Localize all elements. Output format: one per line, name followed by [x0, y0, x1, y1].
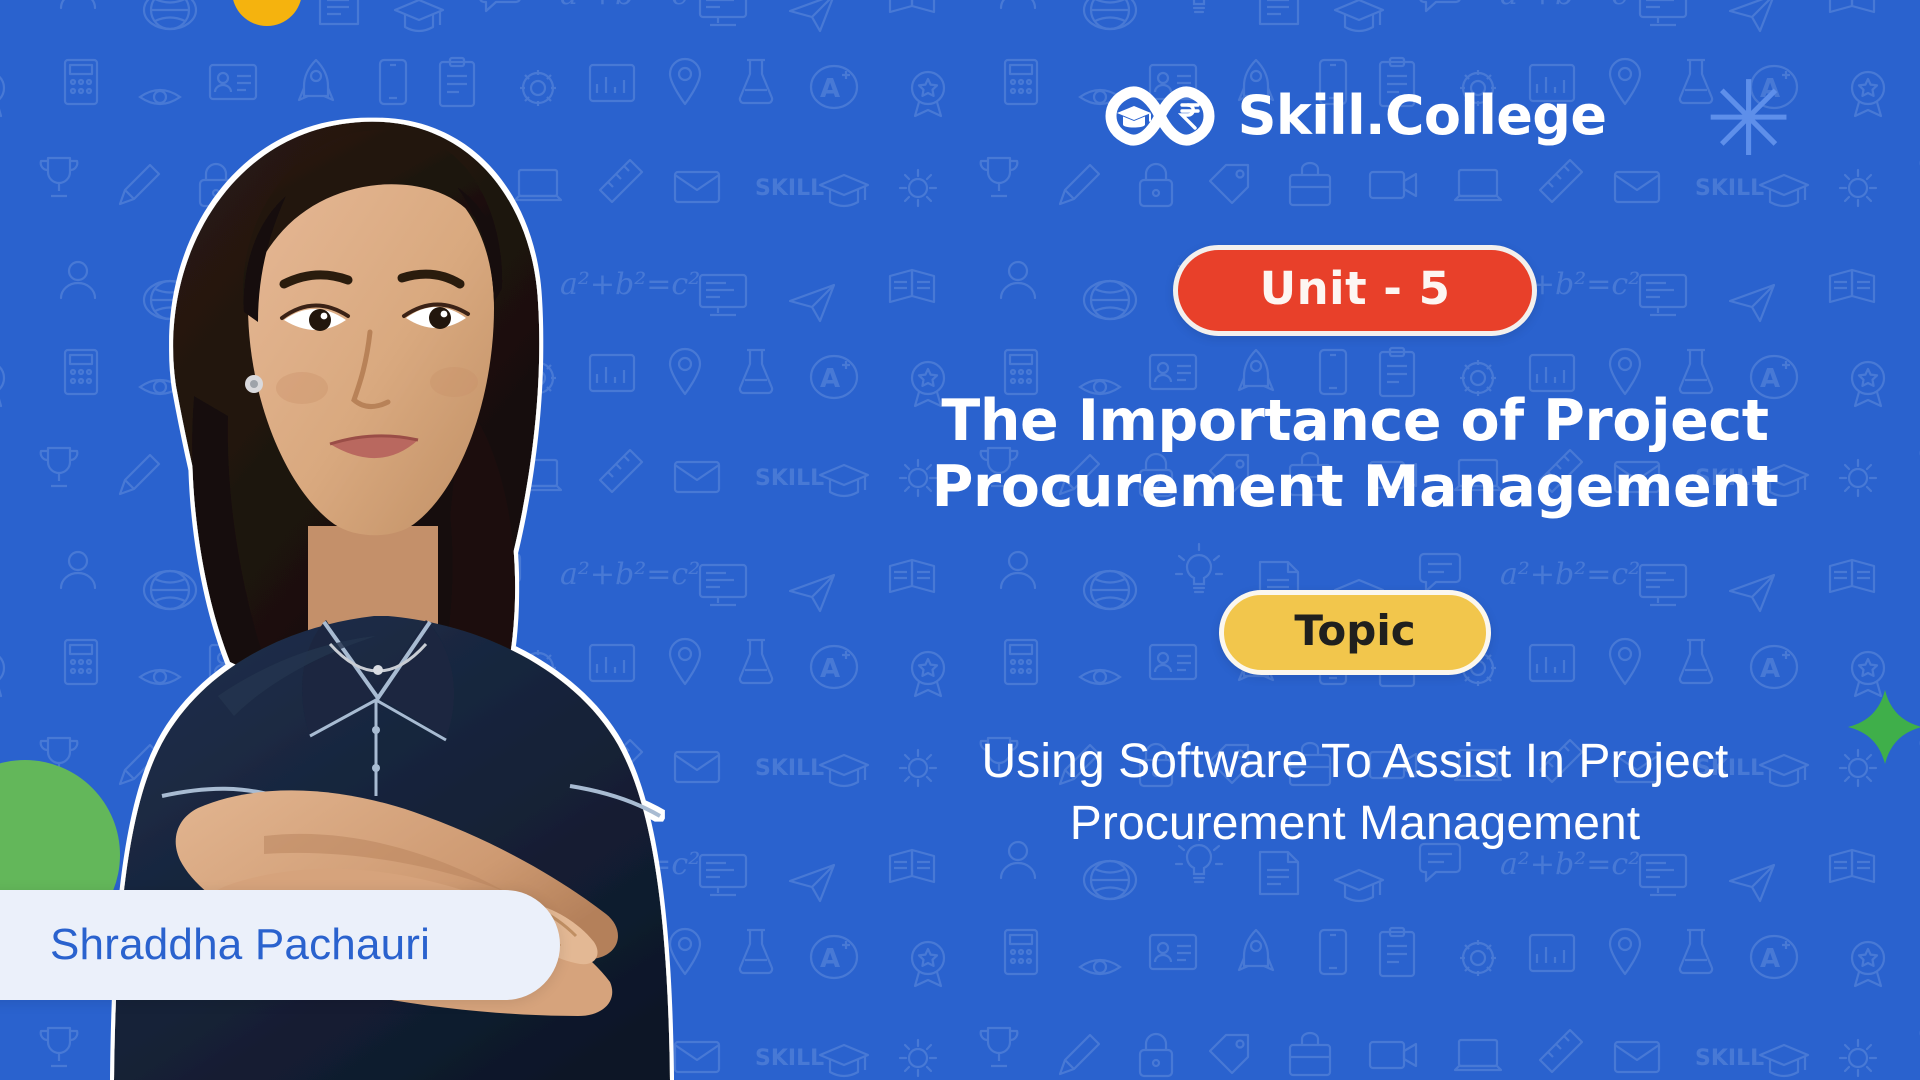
brand-logo-lockup: Skill.College	[1104, 84, 1607, 147]
slide-canvas: a²+b²=c² A SKILL	[0, 0, 1920, 1080]
presenter-name: Shraddha Pachauri	[50, 920, 430, 970]
slide-subtitle-line-1: Using Software To Assist In Project	[845, 731, 1865, 792]
presenter-name-tag: Shraddha Pachauri	[0, 890, 560, 1000]
slide-title-line-1: The Importance of Project	[865, 388, 1845, 454]
slide-title-line-2: Procurement Management	[865, 454, 1845, 520]
brand-name: Skill.College	[1238, 84, 1607, 147]
slide-title: The Importance of Project Procurement Ma…	[865, 388, 1845, 520]
infinity-graduation-rupee-logo-icon	[1104, 85, 1216, 147]
content-column: Skill.College Unit - 5 The Importance of…	[790, 0, 1920, 1080]
slide-subtitle: Using Software To Assist In Project Proc…	[845, 731, 1865, 854]
unit-badge: Unit - 5	[1173, 245, 1538, 336]
slide-subtitle-line-2: Procurement Management	[845, 793, 1865, 854]
topic-badge: Topic	[1219, 590, 1490, 675]
